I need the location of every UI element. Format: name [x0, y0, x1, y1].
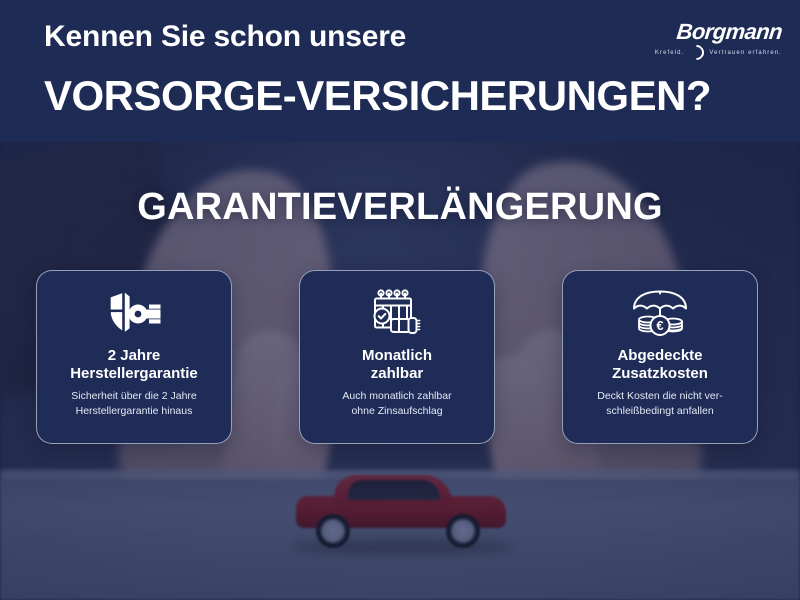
card-desc-line1: Deckt Kosten die nicht ver-: [597, 389, 722, 403]
card-description: Deckt Kosten die nicht ver- schleißbedin…: [597, 389, 722, 418]
calendar-cash-icon: [369, 285, 425, 341]
card-title-line1: Abgedeckte: [612, 347, 708, 365]
borgmann-logo[interactable]: Borgmann Krefeld. Vertrauen erfahren.: [650, 20, 782, 60]
feature-card-monthly-payment[interactable]: Monatlich zahlbar Auch monatlich zahlbar…: [299, 270, 495, 444]
card-desc-line2: schleißbedingt anfallen: [597, 404, 722, 418]
card-desc-line2: ohne Zinsaufschlag: [342, 404, 451, 418]
card-desc-line1: Auch monatlich zahlbar: [342, 389, 451, 403]
card-title-line1: 2 Jahre: [70, 347, 198, 365]
card-description: Auch monatlich zahlbar ohne Zinsaufschla…: [342, 389, 451, 418]
promo-banner: Kennen Sie schon unsere VORSORGE-VERSICH…: [0, 0, 800, 600]
card-title-line2: zahlbar: [362, 365, 432, 383]
card-title-line1: Monatlich: [362, 347, 432, 365]
card-title: Monatlich zahlbar: [362, 347, 432, 382]
logo-wordmark: Borgmann: [649, 20, 784, 44]
logo-claim: Vertrauen erfahren.: [709, 50, 782, 56]
page-title: GARANTIEVERLÄNGERUNG: [0, 186, 800, 229]
feature-card-warranty[interactable]: 2 Jahre Herstellergarantie Sicherheit üb…: [36, 270, 232, 444]
card-desc-line2: Herstellergarantie hinaus: [71, 404, 197, 418]
logo-city: Krefeld.: [655, 50, 684, 56]
card-description: Sicherheit über die 2 Jahre Herstellerga…: [71, 389, 197, 418]
header-title: VORSORGE-VERSICHERUNGEN?: [44, 72, 711, 120]
card-title-line2: Herstellergarantie: [70, 365, 198, 383]
umbrella-coins-euro-icon: €: [629, 285, 691, 341]
card-title: Abgedeckte Zusatzkosten: [612, 347, 708, 382]
svg-text:€: €: [656, 318, 663, 333]
card-desc-line1: Sicherheit über die 2 Jahre: [71, 389, 197, 403]
feature-card-list: 2 Jahre Herstellergarantie Sicherheit üb…: [36, 270, 758, 444]
header-subtitle: Kennen Sie schon unsere: [44, 20, 406, 54]
logo-tagline: Krefeld. Vertrauen erfahren.: [650, 45, 782, 60]
swoosh-icon: [686, 42, 707, 63]
shield-key-icon: [105, 285, 163, 341]
header-bar: Kennen Sie schon unsere VORSORGE-VERSICH…: [0, 0, 800, 142]
feature-card-extra-costs[interactable]: € Abgedeckte Zusatzkosten Deckt Kosten d…: [562, 270, 758, 444]
card-title-line2: Zusatzkosten: [612, 365, 708, 383]
card-title: 2 Jahre Herstellergarantie: [70, 347, 198, 382]
